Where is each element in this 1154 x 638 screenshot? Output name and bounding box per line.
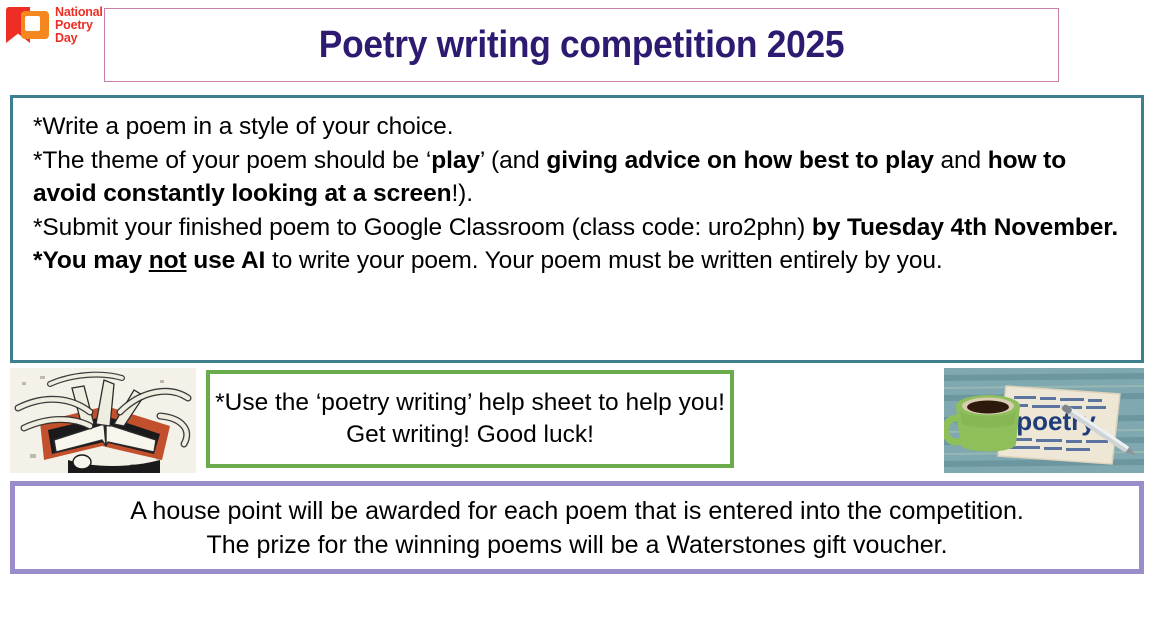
instruction-2-advice-emphasis: giving advice on how best to play [546, 147, 933, 174]
npd-logo-wordmark: National Poetry Day [55, 6, 103, 45]
instruction-line-write-poem: *Write a poem in a style of your choice. [33, 110, 1127, 144]
poetry-napkin-graphic: poetry [944, 368, 1144, 473]
prize-line-voucher: The prize for the winning poems will be … [206, 528, 947, 562]
instruction-4-part-e: to write your poem. Your poem must be wr… [265, 247, 942, 274]
instruction-3-part-a: *Submit your finished poem to Google Cla… [33, 214, 812, 241]
help-line-1: *Use the ‘poetry writing’ help sheet to … [215, 387, 725, 419]
poetry-napkin-photo: poetry [944, 368, 1144, 473]
title-box: Poetry writing competition 2025 [104, 8, 1059, 82]
prize-line-house-point: A house point will be awarded for each p… [130, 494, 1024, 528]
instruction-2-part-a: *The theme of your poem should be ‘ [33, 147, 431, 174]
book-illustration-image [10, 368, 196, 473]
instruction-2-play-emphasis: play [431, 147, 480, 174]
book-illustration-graphic [10, 368, 196, 473]
page-title: Poetry writing competition 2025 [319, 24, 844, 67]
instruction-4-not-emphasis: not [149, 247, 187, 274]
instruction-4-use-ai: use AI [187, 247, 266, 274]
npd-logo-word-day: Day [55, 32, 103, 45]
instruction-line-theme: *The theme of your poem should be ‘play’… [33, 144, 1127, 211]
middle-band: *Use the ‘poetry writing’ help sheet to … [10, 368, 1144, 473]
instruction-2-part-c: ’ (and [480, 147, 546, 174]
help-sheet-box: *Use the ‘poetry writing’ help sheet to … [206, 370, 734, 468]
npd-logo-word-poetry: Poetry [55, 19, 103, 32]
instruction-line-submit: *Submit your finished poem to Google Cla… [33, 211, 1127, 245]
instruction-3-deadline-emphasis: by Tuesday 4th November. [812, 214, 1118, 241]
instruction-1-text: *Write a poem in a style of your choice. [33, 113, 453, 140]
npd-logo-word-national: National [55, 6, 103, 19]
prize-box: A house point will be awarded for each p… [10, 481, 1144, 574]
instruction-2-part-e: and [934, 147, 988, 174]
national-poetry-day-logo: National Poetry Day [4, 3, 108, 47]
npd-logo-mark-icon [4, 5, 51, 45]
logo-inner-square-shape [25, 16, 40, 31]
instructions-box: *Write a poem in a style of your choice.… [10, 95, 1144, 363]
instruction-line-no-ai: *You may not use AI to write your poem. … [33, 244, 1127, 278]
instruction-4-you-may: You may [42, 247, 148, 274]
header-row: National Poetry Day Poetry writing compe… [0, 0, 1154, 90]
help-line-2: Get writing! Good luck! [346, 419, 594, 451]
instruction-2-part-g: !). [451, 180, 472, 207]
